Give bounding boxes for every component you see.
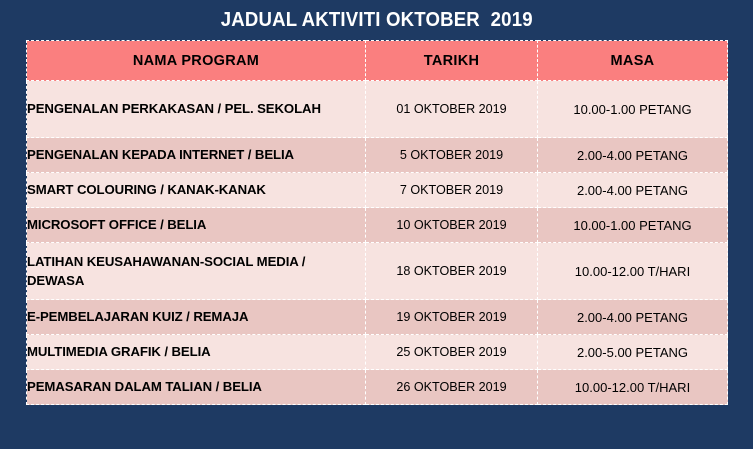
page-title: JADUAL AKTIVITI OKTOBER 2019: [220, 9, 532, 32]
cell-tarikh: 01 OKTOBER 2019: [366, 81, 538, 138]
cell-masa: 10.00-1.00 PETANG: [538, 81, 728, 138]
cell-masa: 2.00-4.00 PETANG: [538, 300, 728, 335]
cell-program: PENGENALAN KEPADA INTERNET / BELIA: [27, 138, 366, 173]
cell-tarikh: 19 OKTOBER 2019: [366, 300, 538, 335]
cell-program: SMART COLOURING / KANAK-KANAK: [27, 173, 366, 208]
cell-masa: 10.00-12.00 T/HARI: [538, 370, 728, 405]
cell-program: PENGENALAN PERKAKASAN / PEL. SEKOLAH: [27, 81, 366, 138]
cell-program: PEMASARAN DALAM TALIAN / BELIA: [27, 370, 366, 405]
activity-schedule-table: NAMA PROGRAM TARIKH MASA PENGENALAN PERK…: [26, 40, 728, 405]
cell-program: E-PEMBELAJARAN KUIZ / REMAJA: [27, 300, 366, 335]
cell-masa: 2.00-5.00 PETANG: [538, 335, 728, 370]
column-header-masa: MASA: [538, 41, 728, 81]
cell-tarikh: 26 OKTOBER 2019: [366, 370, 538, 405]
cell-tarikh: 10 OKTOBER 2019: [366, 208, 538, 243]
cell-tarikh: 5 OKTOBER 2019: [366, 138, 538, 173]
table-row: PENGENALAN KEPADA INTERNET / BELIA 5 OKT…: [27, 138, 728, 173]
cell-masa: 2.00-4.00 PETANG: [538, 138, 728, 173]
column-header-tarikh: TARIKH: [366, 41, 538, 81]
cell-program: LATIHAN KEUSAHAWANAN-SOCIAL MEDIA / DEWA…: [27, 243, 366, 300]
column-header-program: NAMA PROGRAM: [27, 41, 366, 81]
cell-tarikh: 25 OKTOBER 2019: [366, 335, 538, 370]
table-row: LATIHAN KEUSAHAWANAN-SOCIAL MEDIA / DEWA…: [27, 243, 728, 300]
cell-program: MULTIMEDIA GRAFIK / BELIA: [27, 335, 366, 370]
slide-title-bar: JADUAL AKTIVITI OKTOBER 2019: [0, 0, 753, 40]
table-row: MULTIMEDIA GRAFIK / BELIA 25 OKTOBER 201…: [27, 335, 728, 370]
cell-program: MICROSOFT OFFICE / BELIA: [27, 208, 366, 243]
table-row: E-PEMBELAJARAN KUIZ / REMAJA 19 OKTOBER …: [27, 300, 728, 335]
cell-tarikh: 18 OKTOBER 2019: [366, 243, 538, 300]
table-header-row: NAMA PROGRAM TARIKH MASA: [27, 41, 728, 81]
slide-canvas: JADUAL AKTIVITI OKTOBER 2019 NAMA PROGRA…: [0, 0, 753, 449]
cell-masa: 10.00-12.00 T/HARI: [538, 243, 728, 300]
table-body: PENGENALAN PERKAKASAN / PEL. SEKOLAH 01 …: [27, 81, 728, 405]
table-row: SMART COLOURING / KANAK-KANAK 7 OKTOBER …: [27, 173, 728, 208]
cell-masa: 2.00-4.00 PETANG: [538, 173, 728, 208]
table-row: PENGENALAN PERKAKASAN / PEL. SEKOLAH 01 …: [27, 81, 728, 138]
cell-tarikh: 7 OKTOBER 2019: [366, 173, 538, 208]
cell-masa: 10.00-1.00 PETANG: [538, 208, 728, 243]
table-row: PEMASARAN DALAM TALIAN / BELIA 26 OKTOBE…: [27, 370, 728, 405]
table-row: MICROSOFT OFFICE / BELIA 10 OKTOBER 2019…: [27, 208, 728, 243]
